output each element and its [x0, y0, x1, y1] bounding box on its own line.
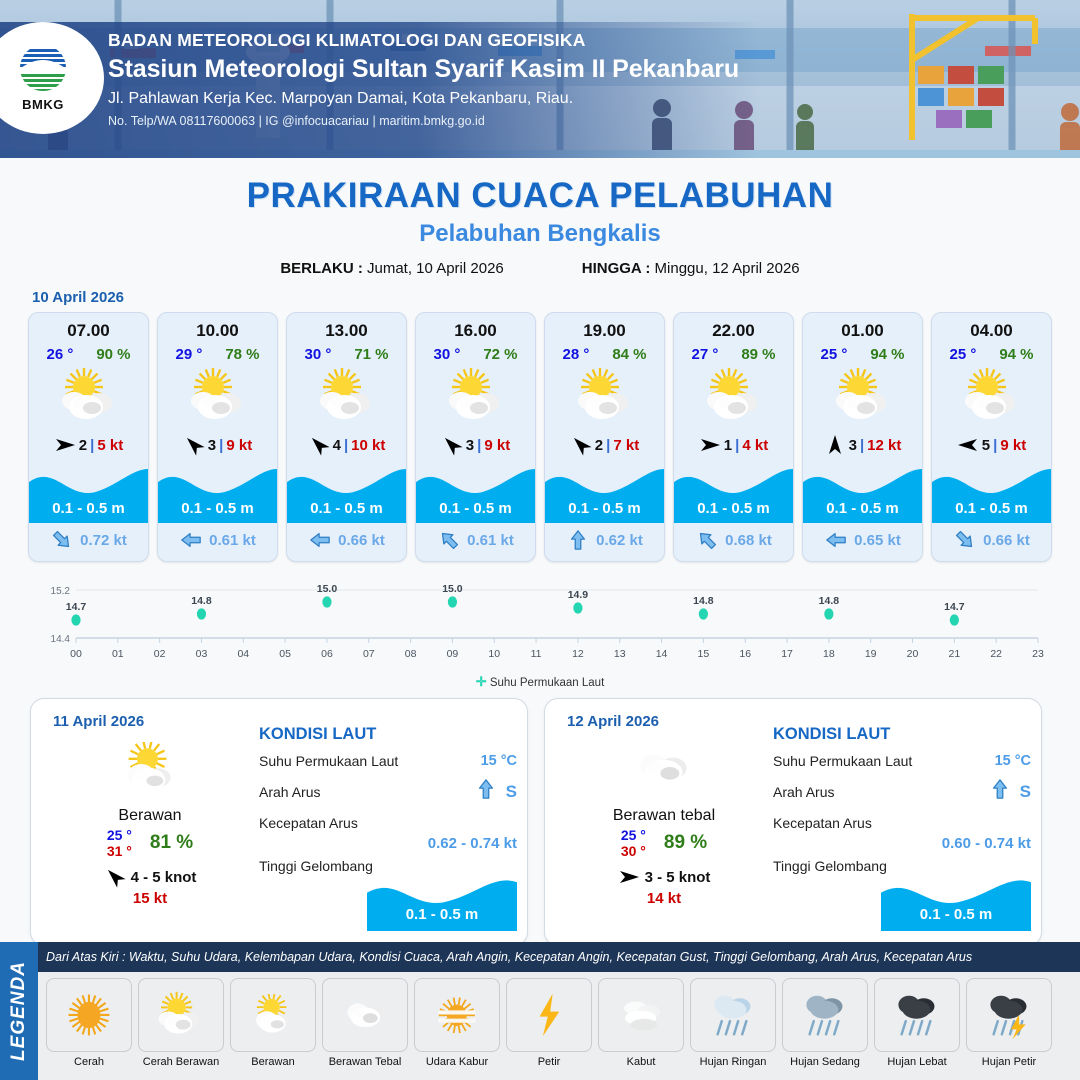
berlaku-group: BERLAKU : Jumat, 10 April 2026: [280, 260, 503, 277]
panel-gust: 14 kt: [559, 890, 769, 907]
port-name: Pelabuhan Bengkalis: [0, 220, 1080, 248]
wind-speed: 5: [982, 437, 990, 454]
current-speed: 0.66 kt: [983, 532, 1030, 549]
card-temperature: 30 °: [304, 346, 331, 363]
cerah-berawan-icon: [932, 365, 1051, 427]
card-time: 19.00: [545, 321, 664, 341]
wave-height-label: Tinggi Gelombang: [773, 858, 887, 874]
card-temperature: 25 °: [820, 346, 847, 363]
udara-kabur-icon: [414, 978, 500, 1052]
legend-label: Suhu Permukaan Laut: [490, 677, 604, 689]
berawan-tebal-icon: [322, 978, 408, 1052]
panel-condition: Berawan: [45, 807, 255, 825]
kabut-icon: [598, 978, 684, 1052]
panel-wind-speed: 4 - 5 knot: [131, 869, 197, 886]
legenda-item: Petir: [506, 978, 592, 1080]
svg-text:14.8: 14.8: [191, 595, 212, 607]
svg-text:01: 01: [112, 648, 124, 660]
gust-speed: 9 kt: [1000, 437, 1026, 454]
card-humidity: 84 %: [612, 346, 646, 363]
legenda-item-label: Berawan Tebal: [322, 1056, 408, 1068]
current-speed: 0.62 kt: [596, 532, 643, 549]
panel-date: 12 April 2026: [567, 713, 659, 730]
page-title: PRAKIRAAN CUACA PELABUHAN: [0, 176, 1080, 216]
wind-separator: |: [90, 437, 94, 454]
daily-forecast-panels: 11 April 2026 Berawan 25 ° 31 ° 81 % 4 -…: [0, 690, 1080, 946]
forecast-card: 07.00 26 ° 90 % 2 | 5 kt 0.1 - 0.5 m 0.7…: [28, 312, 149, 562]
card-humidity: 89 %: [741, 346, 775, 363]
hujan-ringan-icon: [690, 978, 776, 1052]
wind-direction-icon: [699, 434, 721, 456]
sea-condition-title: KONDISI LAUT: [773, 725, 1031, 744]
daily-forecast-panel: 12 April 2026 Berawan tebal 25 ° 30 ° 89…: [544, 698, 1042, 946]
card-humidity: 90 %: [96, 346, 130, 363]
svg-text:18: 18: [823, 648, 835, 660]
wave-height: 0.1 - 0.5 m: [803, 500, 922, 517]
hingga-label: HINGGA :: [582, 260, 651, 277]
current-direction-label: Arah Arus: [259, 784, 320, 800]
panel-wind-direction-icon: [618, 867, 640, 887]
svg-text:22: 22: [990, 648, 1002, 660]
card-humidity: 72 %: [483, 346, 517, 363]
current-speed: 0.68 kt: [725, 532, 772, 549]
current-direction-icon: [953, 529, 977, 551]
legenda-item: Udara Kabur: [414, 978, 500, 1080]
hujan-sedang-icon: [782, 978, 868, 1052]
card-time: 16.00: [416, 321, 535, 341]
current-speed-value: 0.60 - 0.74 kt: [773, 835, 1031, 852]
svg-text:02: 02: [154, 648, 166, 660]
gust-speed: 9 kt: [484, 437, 510, 454]
current-direction-icon: [50, 529, 74, 551]
berawan-icon: [45, 737, 255, 801]
cerah-berawan-icon: [29, 365, 148, 427]
card-time: 10.00: [158, 321, 277, 341]
current-direction-icon: [566, 529, 590, 551]
hingga-group: HINGGA : Minggu, 12 April 2026: [582, 260, 800, 277]
svg-text:15.0: 15.0: [442, 583, 463, 595]
legenda-items-row: Cerah Cerah Berawan Berawan Berawan Teba…: [38, 972, 1080, 1080]
forecast-card: 13.00 30 ° 71 % 4 | 10 kt 0.1 - 0.5 m 0.…: [286, 312, 407, 562]
wind-speed: 1: [724, 437, 732, 454]
wave-height: 0.1 - 0.5 m: [674, 500, 793, 517]
current-direction-icon: [308, 529, 332, 551]
gust-speed: 4 kt: [742, 437, 768, 454]
wind-separator: |: [735, 437, 739, 454]
svg-text:15.2: 15.2: [51, 586, 71, 597]
legenda-item: Hujan Sedang: [782, 978, 868, 1080]
svg-text:08: 08: [405, 648, 417, 660]
wind-direction-icon: [183, 434, 205, 456]
svg-text:09: 09: [447, 648, 459, 660]
cerah-icon: [46, 978, 132, 1052]
bmkg-logo-text: BMKG: [8, 97, 78, 112]
legenda-item-label: Hujan Petir: [966, 1056, 1052, 1068]
svg-text:13: 13: [614, 648, 626, 660]
berlaku-label: BERLAKU :: [280, 260, 363, 277]
svg-text:16: 16: [739, 648, 751, 660]
wave-height: 0.1 - 0.5 m: [545, 500, 664, 517]
bmkg-logo-mark: [13, 44, 73, 96]
current-speed: 0.61 kt: [467, 532, 514, 549]
current-direction-icon: [824, 529, 848, 551]
cerah-berawan-icon: [138, 978, 224, 1052]
current-speed-value: 0.62 - 0.74 kt: [259, 835, 517, 852]
current-direction-icon: [179, 529, 203, 551]
svg-text:03: 03: [196, 648, 208, 660]
sea-condition-title: KONDISI LAUT: [259, 725, 517, 744]
petir-icon: [506, 978, 592, 1052]
berawan-icon: [230, 978, 316, 1052]
card-humidity: 94 %: [870, 346, 904, 363]
card-temperature: 30 °: [433, 346, 460, 363]
legenda-item: Kabut: [598, 978, 684, 1080]
card-time: 04.00: [932, 321, 1051, 341]
legenda-item: Berawan Tebal: [322, 978, 408, 1080]
current-direction-icon: [437, 529, 461, 551]
legenda-side-bar: LEGENDA: [0, 942, 38, 1080]
current-speed-label: Kecepatan Arus: [773, 815, 872, 831]
svg-text:14.4: 14.4: [51, 634, 71, 645]
validity-row: BERLAKU : Jumat, 10 April 2026 HINGGA : …: [0, 260, 1080, 277]
legenda-item-label: Hujan Ringan: [690, 1056, 776, 1068]
station-address: Jl. Pahlawan Kerja Kec. Marpoyan Damai, …: [108, 90, 739, 108]
wind-separator: |: [860, 437, 864, 454]
legenda-item-label: Udara Kabur: [414, 1056, 500, 1068]
panel-condition: Berawan tebal: [559, 807, 769, 825]
panel-current-direction-icon: [988, 778, 1012, 805]
sst-value: 15 °C: [995, 753, 1031, 769]
wave-height: 0.1 - 0.5 m: [158, 500, 277, 517]
svg-text:14.8: 14.8: [819, 595, 840, 607]
card-humidity: 94 %: [999, 346, 1033, 363]
forecast-card: 10.00 29 ° 78 % 3 | 9 kt 0.1 - 0.5 m 0.6…: [157, 312, 278, 562]
svg-text:19: 19: [865, 648, 877, 660]
panel-date: 11 April 2026: [53, 713, 144, 730]
panel-wind-direction-icon: [104, 867, 126, 887]
wind-direction-icon: [441, 434, 463, 456]
svg-text:14: 14: [656, 648, 668, 660]
wind-direction-icon: [824, 434, 846, 456]
hingga-value: Minggu, 12 April 2026: [655, 260, 800, 277]
panel-wind-speed: 3 - 5 knot: [645, 869, 711, 886]
wave-height-label: Tinggi Gelombang: [259, 858, 373, 874]
wind-separator: |: [606, 437, 610, 454]
hourly-forecast-row: 07.00 26 ° 90 % 2 | 5 kt 0.1 - 0.5 m 0.7…: [0, 312, 1080, 562]
card-time: 01.00: [803, 321, 922, 341]
cerah-berawan-icon: [416, 365, 535, 427]
panel-gust: 15 kt: [45, 890, 255, 907]
legenda-item: Hujan Petir: [966, 978, 1052, 1080]
svg-text:14.7: 14.7: [66, 601, 87, 613]
legenda-section: LEGENDA Dari Atas Kiri : Waktu, Suhu Uda…: [0, 942, 1080, 1080]
svg-text:00: 00: [70, 648, 82, 660]
current-speed: 0.72 kt: [80, 532, 127, 549]
svg-text:21: 21: [949, 648, 961, 660]
panel-humidity: 81 %: [150, 832, 193, 854]
wind-direction-icon: [957, 434, 979, 456]
legend-marker-icon: ✛: [476, 674, 487, 689]
legenda-item-label: Kabut: [598, 1056, 684, 1068]
wave-height: 0.1 - 0.5 m: [416, 500, 535, 517]
svg-text:11: 11: [531, 648, 542, 660]
card-temperature: 25 °: [949, 346, 976, 363]
svg-text:23: 23: [1032, 648, 1044, 660]
cerah-berawan-icon: [158, 365, 277, 427]
forecast-card: 16.00 30 ° 72 % 3 | 9 kt 0.1 - 0.5 m 0.6…: [415, 312, 536, 562]
panel-temp-max: 31 °: [107, 843, 132, 859]
card-humidity: 71 %: [354, 346, 388, 363]
panel-current-direction-icon: [474, 778, 498, 805]
panel-temp-min: 25 °: [107, 827, 132, 843]
forecast-card: 04.00 25 ° 94 % 5 | 9 kt 0.1 - 0.5 m 0.6…: [931, 312, 1052, 562]
svg-text:10: 10: [488, 648, 500, 660]
card-temperature: 27 °: [691, 346, 718, 363]
card-temperature: 29 °: [175, 346, 202, 363]
agency-name: BADAN METEOROLOGI KLIMATOLOGI DAN GEOFIS…: [108, 30, 739, 51]
panel-wave-value: 0.1 - 0.5 m: [367, 906, 517, 923]
cerah-berawan-icon: [674, 365, 793, 427]
current-speed: 0.66 kt: [338, 532, 385, 549]
sst-value: 15 °C: [481, 753, 517, 769]
forecast-card: 19.00 28 ° 84 % 2 | 7 kt 0.1 - 0.5 m 0.6…: [544, 312, 665, 562]
wind-direction-icon: [308, 434, 330, 456]
hujan-petir-icon: [966, 978, 1052, 1052]
gust-speed: 7 kt: [613, 437, 639, 454]
current-speed: 0.65 kt: [854, 532, 901, 549]
wave-height: 0.1 - 0.5 m: [29, 500, 148, 517]
forecast-day-label: 10 April 2026: [32, 289, 1080, 306]
berlaku-value: Jumat, 10 April 2026: [367, 260, 504, 277]
card-temperature: 26 °: [46, 346, 73, 363]
svg-text:12: 12: [572, 648, 584, 660]
current-direction-icon: [695, 529, 719, 551]
legenda-item-label: Cerah: [46, 1056, 132, 1068]
legenda-item-label: Hujan Sedang: [782, 1056, 868, 1068]
current-speed: 0.61 kt: [209, 532, 256, 549]
station-name: Stasiun Meteorologi Sultan Syarif Kasim …: [108, 55, 739, 84]
wind-separator: |: [993, 437, 997, 454]
legenda-item-label: Berawan: [230, 1056, 316, 1068]
panel-temp-min: 25 °: [621, 827, 646, 843]
svg-text:15.0: 15.0: [317, 583, 338, 595]
sst-label: Suhu Permukaan Laut: [259, 753, 398, 769]
legenda-side-label: LEGENDA: [8, 961, 30, 1061]
wave-height: 0.1 - 0.5 m: [932, 500, 1051, 517]
sst-label: Suhu Permukaan Laut: [773, 753, 912, 769]
daily-forecast-panel: 11 April 2026 Berawan 25 ° 31 ° 81 % 4 -…: [30, 698, 528, 946]
svg-text:07: 07: [363, 648, 375, 660]
wind-speed: 3: [849, 437, 857, 454]
cerah-berawan-icon: [545, 365, 664, 427]
wind-separator: |: [477, 437, 481, 454]
legenda-item: Cerah: [46, 978, 132, 1080]
legenda-item-label: Petir: [506, 1056, 592, 1068]
wave-height: 0.1 - 0.5 m: [287, 500, 406, 517]
card-time: 07.00: [29, 321, 148, 341]
card-temperature: 28 °: [562, 346, 589, 363]
forecast-card: 01.00 25 ° 94 % 3 | 12 kt 0.1 - 0.5 m 0.…: [802, 312, 923, 562]
svg-text:05: 05: [279, 648, 291, 660]
cerah-berawan-icon: [287, 365, 406, 427]
sst-chart: 15.214.400010203040506070809101112131415…: [28, 576, 1052, 672]
svg-text:15: 15: [698, 648, 710, 660]
legenda-item: Berawan: [230, 978, 316, 1080]
svg-text:14.8: 14.8: [693, 595, 714, 607]
svg-text:14.9: 14.9: [568, 589, 589, 601]
legenda-note: Dari Atas Kiri : Waktu, Suhu Udara, Kele…: [38, 942, 1080, 972]
current-direction-value: S: [1020, 782, 1031, 802]
card-time: 13.00: [287, 321, 406, 341]
svg-text:06: 06: [321, 648, 333, 660]
current-direction-value: S: [506, 782, 517, 802]
wind-separator: |: [344, 437, 348, 454]
legenda-item-label: Cerah Berawan: [138, 1056, 224, 1068]
svg-text:17: 17: [781, 648, 793, 660]
forecast-card: 22.00 27 ° 89 % 1 | 4 kt 0.1 - 0.5 m 0.6…: [673, 312, 794, 562]
legenda-item-label: Hujan Lebat: [874, 1056, 960, 1068]
cerah-berawan-icon: [803, 365, 922, 427]
legenda-item: Hujan Lebat: [874, 978, 960, 1080]
title-block: PRAKIRAAN CUACA PELABUHAN Pelabuhan Beng…: [0, 176, 1080, 277]
gust-speed: 9 kt: [226, 437, 252, 454]
wind-direction-icon: [570, 434, 592, 456]
card-humidity: 78 %: [225, 346, 259, 363]
wind-separator: |: [219, 437, 223, 454]
berawan-tebal-icon: [559, 737, 769, 801]
card-time: 22.00: [674, 321, 793, 341]
legenda-item: Hujan Ringan: [690, 978, 776, 1080]
wind-speed: 2: [79, 437, 87, 454]
gust-speed: 12 kt: [867, 437, 901, 454]
svg-text:04: 04: [237, 648, 249, 660]
svg-text:14.7: 14.7: [944, 601, 965, 613]
wind-direction-icon: [54, 434, 76, 456]
legenda-item: Cerah Berawan: [138, 978, 224, 1080]
svg-text:20: 20: [907, 648, 919, 660]
hujan-lebat-icon: [874, 978, 960, 1052]
station-contact: No. Telp/WA 08117600063 | IG @infocuacar…: [108, 114, 739, 128]
chart-legend: ✛ Suhu Permukaan Laut: [0, 674, 1080, 690]
current-direction-label: Arah Arus: [773, 784, 834, 800]
panel-wave-value: 0.1 - 0.5 m: [881, 906, 1031, 923]
page-header: BMKG BADAN METEOROLOGI KLIMATOLOGI DAN G…: [0, 0, 1080, 158]
current-speed-label: Kecepatan Arus: [259, 815, 358, 831]
panel-temp-max: 30 °: [621, 843, 646, 859]
gust-speed: 5 kt: [97, 437, 123, 454]
gust-speed: 10 kt: [351, 437, 385, 454]
panel-humidity: 89 %: [664, 832, 707, 854]
